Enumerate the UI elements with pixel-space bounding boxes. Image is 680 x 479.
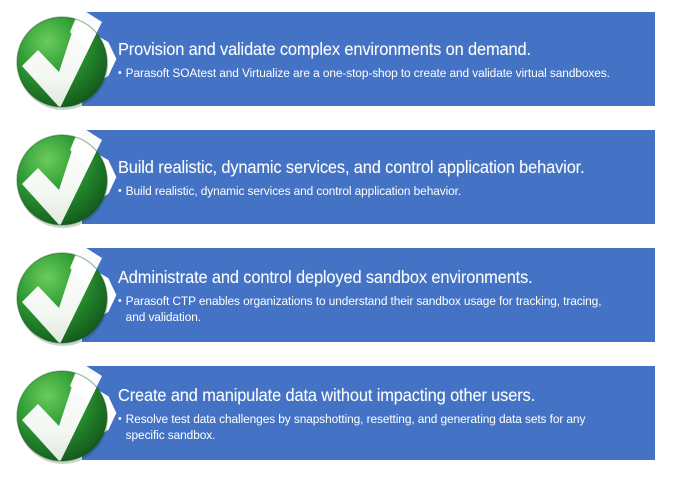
item-headline: Administrate and control deployed sandbo…: [118, 267, 617, 288]
bullet-list: Build realistic, dynamic services and co…: [118, 183, 641, 199]
bullet-item: Parasoft SOAtest and Virtualize are a on…: [118, 65, 620, 81]
bullet-list: Parasoft CTP enables organizations to un…: [118, 293, 641, 325]
checklist-row: Create and manipulate data without impac…: [0, 354, 680, 470]
checklist-row: Build realistic, dynamic services, and c…: [0, 118, 680, 234]
checklist-row: Administrate and control deployed sandbo…: [0, 236, 680, 352]
banner-panel: Build realistic, dynamic services, and c…: [82, 130, 655, 224]
banner-content: Create and manipulate data without impac…: [118, 366, 641, 460]
item-headline: Create and manipulate data without impac…: [118, 385, 617, 406]
bullet-item: Build realistic, dynamic services and co…: [118, 183, 620, 199]
banner-panel: Provision and validate complex environme…: [82, 12, 655, 106]
item-headline: Build realistic, dynamic services, and c…: [118, 157, 617, 178]
checklist-row: Provision and validate complex environme…: [0, 0, 680, 116]
banner-panel: Create and manipulate data without impac…: [82, 366, 655, 460]
banner-content: Administrate and control deployed sandbo…: [118, 248, 641, 342]
bullet-item: Parasoft CTP enables organizations to un…: [118, 293, 620, 325]
bullet-list: Resolve test data challenges by snapshot…: [118, 411, 641, 443]
bullet-list: Parasoft SOAtest and Virtualize are a on…: [118, 65, 641, 81]
banner-content: Provision and validate complex environme…: [118, 12, 641, 106]
checklist-banner-diagram: Provision and validate complex environme…: [0, 0, 680, 479]
bullet-item: Resolve test data challenges by snapshot…: [118, 411, 620, 443]
banner-panel: Administrate and control deployed sandbo…: [82, 248, 655, 342]
item-headline: Provision and validate complex environme…: [118, 39, 617, 60]
banner-content: Build realistic, dynamic services, and c…: [118, 130, 641, 224]
